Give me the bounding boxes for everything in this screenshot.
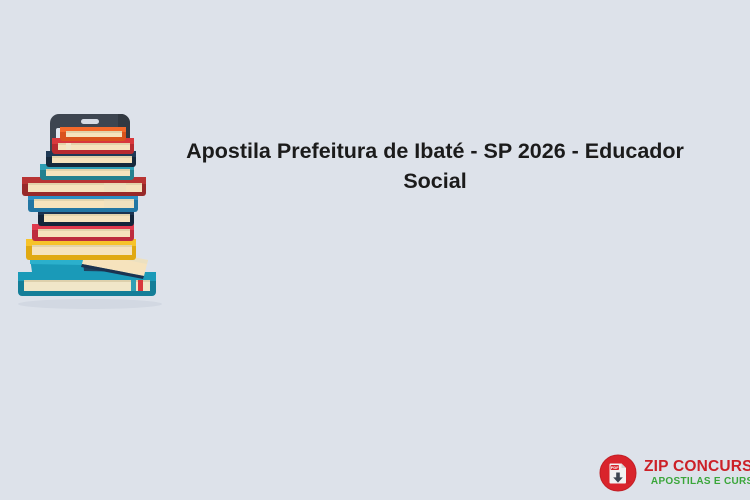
bookmark-teal	[131, 280, 136, 291]
illustration-ground-shadow	[18, 299, 162, 309]
tablet-speaker	[81, 119, 99, 124]
book-crimson-8	[32, 224, 134, 241]
brand-tagline: APOSTILAS E CURSOS	[644, 477, 750, 487]
product-title-block: Apostila Prefeitura de Ibaté - SP 2026 -…	[168, 136, 702, 196]
book-orange-top	[60, 127, 126, 141]
pdf-download-circle-icon: PDF	[599, 454, 637, 492]
brand-wordmark: ZIP CONCURSOS APOSTILAS E CURSOS	[644, 459, 750, 488]
page-root: Apostila Prefeitura de Ibaté - SP 2026 -…	[0, 0, 750, 500]
brand-name: ZIP CONCURSOS	[644, 459, 750, 475]
page-title: Apostila Prefeitura de Ibaté - SP 2026 -…	[168, 136, 702, 196]
bookmark-red	[138, 280, 143, 291]
brand-logo[interactable]: PDF ZIP CONCURSOS APOSTILAS E CURSOS	[599, 452, 743, 494]
svg-text:PDF: PDF	[611, 465, 620, 470]
book-yellow-9	[26, 239, 136, 260]
books-and-tablet-illustration	[8, 108, 173, 313]
